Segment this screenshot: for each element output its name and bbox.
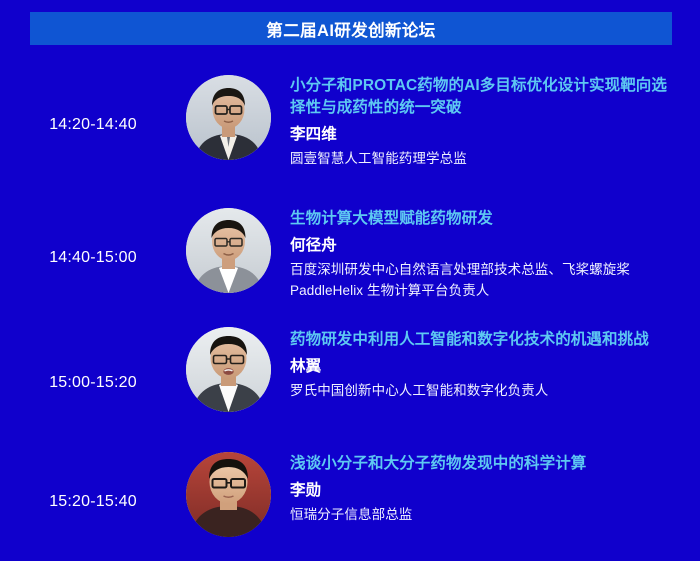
speaker-name: 李勋	[290, 479, 700, 502]
talk-title: 小分子和PROTAC药物的AI多目标优化设计实现靶向选择性与成药性的统一突破	[290, 75, 678, 119]
page-title: 第二届AI研发创新论坛	[266, 17, 435, 41]
speaker-name: 林翼	[290, 355, 700, 378]
speaker-name: 何径舟	[290, 234, 700, 257]
talk-title: 浅谈小分子和大分子药物发现中的科学计算	[290, 453, 678, 475]
session-time: 14:40-15:00	[0, 192, 186, 323]
session-details: 浅谈小分子和大分子药物发现中的科学计算 李勋 恒瑞分子信息部总监	[286, 443, 700, 526]
session-details: 小分子和PROTAC药物的AI多目标优化设计实现靶向选择性与成药性的统一突破 李…	[286, 57, 700, 170]
agenda-row: 15:00-15:20	[0, 323, 700, 443]
agenda-row: 15:20-15:40	[0, 443, 700, 561]
talk-title: 生物计算大模型赋能药物研发	[290, 208, 678, 230]
speaker-portrait-icon	[186, 452, 271, 537]
avatar-container	[186, 192, 286, 293]
avatar-container	[186, 323, 286, 412]
speaker-affiliation: 罗氏中国创新中心人工智能和数字化负责人	[290, 381, 690, 402]
avatar	[186, 208, 271, 293]
avatar	[186, 75, 271, 160]
session-details: 生物计算大模型赋能药物研发 何径舟 百度深圳研发中心自然语言处理部技术总监、飞桨…	[286, 192, 700, 302]
agenda-list: 14:20-14:40	[0, 57, 700, 561]
speaker-portrait-icon	[186, 208, 271, 293]
affiliation-line: 罗氏中国创新中心人工智能和数字化负责人	[290, 381, 690, 402]
speaker-portrait-icon	[186, 75, 271, 160]
affiliation-line: PaddleHelix 生物计算平台负责人	[290, 281, 690, 302]
speaker-affiliation: 圆壹智慧人工智能药理学总监	[290, 149, 690, 170]
speaker-affiliation: 百度深圳研发中心自然语言处理部技术总监、飞桨螺旋桨 PaddleHelix 生物…	[290, 260, 690, 302]
agenda-row: 14:20-14:40	[0, 57, 700, 192]
agenda-row: 14:40-15:00	[0, 192, 700, 323]
avatar-container	[186, 57, 286, 160]
talk-title: 药物研发中利用人工智能和数字化技术的机遇和挑战	[290, 329, 678, 351]
session-time: 15:20-15:40	[0, 443, 186, 561]
forum-title-banner: 第二届AI研发创新论坛	[30, 12, 672, 45]
session-details: 药物研发中利用人工智能和数字化技术的机遇和挑战 林翼 罗氏中国创新中心人工智能和…	[286, 323, 700, 402]
affiliation-line: 百度深圳研发中心自然语言处理部技术总监、飞桨螺旋桨	[290, 260, 690, 281]
avatar	[186, 452, 271, 537]
affiliation-line: 圆壹智慧人工智能药理学总监	[290, 149, 690, 170]
speaker-name: 李四维	[290, 123, 700, 146]
session-time: 15:00-15:20	[0, 323, 186, 443]
speaker-portrait-icon	[186, 327, 271, 412]
speaker-affiliation: 恒瑞分子信息部总监	[290, 505, 690, 526]
session-time: 14:20-14:40	[0, 57, 186, 192]
avatar	[186, 327, 271, 412]
affiliation-line: 恒瑞分子信息部总监	[290, 505, 690, 526]
avatar-container	[186, 443, 286, 537]
